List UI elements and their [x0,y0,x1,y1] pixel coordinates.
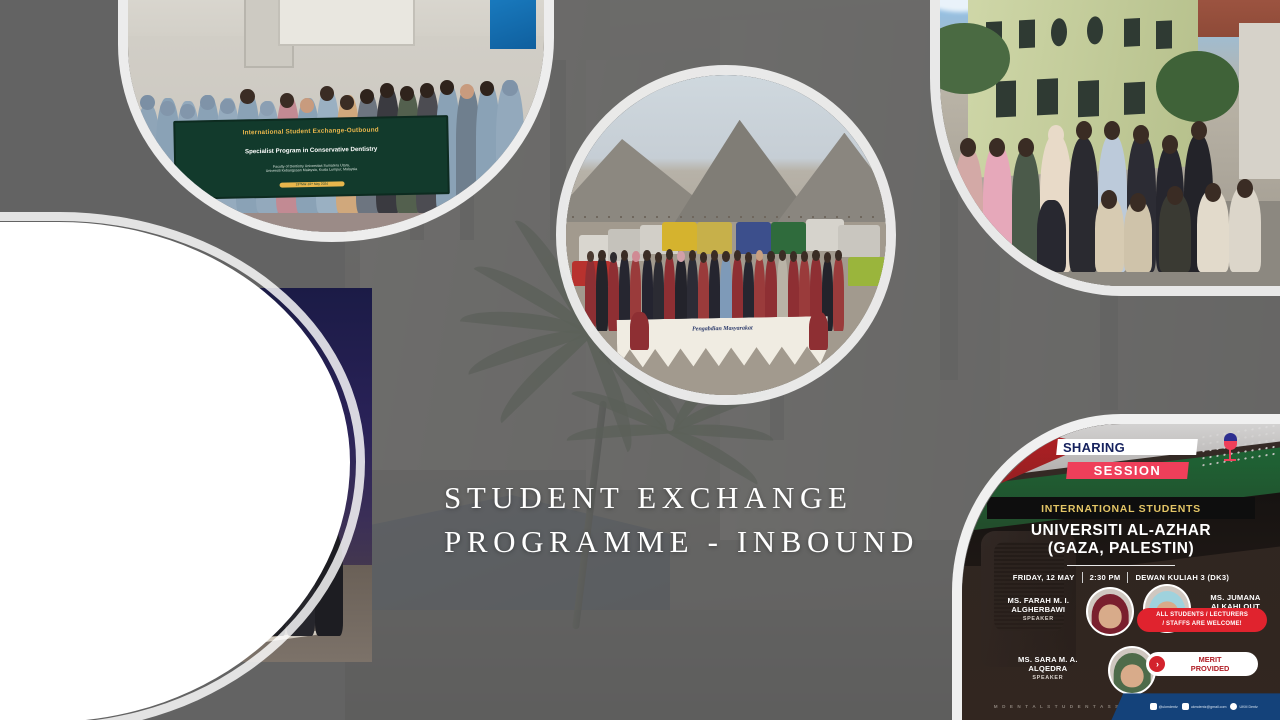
facebook-icon [1230,703,1237,710]
banner-date-badge: 13ᵗʰMar-18ᵗʰ May 2024 [279,181,344,187]
poster-sharing-session: SHARING SESSION INTERNATIONAL STUDENTS U… [962,424,1280,720]
social-instagram[interactable]: @ukmdentz [1150,703,1178,710]
mail-handle: ukmdentz@gmail.com [1191,705,1227,709]
university-line-2: (GAZA, PALESTIN) [975,541,1268,557]
banner-line-3: Faculty of Dentistry Universitas Sumater… [176,161,447,176]
meta-divider [1127,572,1128,583]
university-line-1: UNIVERSITI AL-AZHAR [975,523,1268,539]
welcome-pill-label: ALL STUDENTS / LECTURERS / STAFFS ARE WE… [1141,611,1263,628]
kneeling-person [809,312,828,350]
meta-divider [1082,572,1083,583]
session-label-box: SESSION [1066,462,1189,479]
event-venue: DEWAN KULIAH 3 (DK3) [1135,573,1229,582]
audience-bar-label: INTERNATIONAL STUDENTS [1041,503,1201,515]
speaker-1-role: SPEAKER [981,616,1095,622]
microphone-icon [1221,433,1239,463]
instagram-icon [1150,703,1157,710]
people-group [954,101,1274,272]
kneeling-person [630,312,649,350]
event-time: 2:30 PM [1090,573,1121,582]
projector-screen [278,0,415,46]
facebook-handle: UKM Dentz [1239,705,1257,709]
speaker-3-role: SPEAKER [991,675,1105,681]
display-screen [490,0,536,49]
photo-green-building-group [940,0,1280,286]
arrow-right-icon: › [1149,656,1165,672]
session-label: SESSION [1073,464,1182,477]
speaker-3-name: MS. SARA M. A. ALQEDRA [991,655,1105,674]
sharing-label-box: SHARING [1057,439,1199,455]
event-banner: International Student Exchange-Outbound … [173,115,449,200]
sharing-label: SHARING [1063,441,1191,454]
banner-line-2: Specialist Program in Conservative Denti… [176,144,447,157]
slide-canvas: International Student Exchange-Outbound … [0,0,1280,720]
welcome-pill: ALL STUDENTS / LECTURERS / STAFFS ARE WE… [1137,608,1267,632]
mountain [777,133,886,223]
speaker-1-name: MS. FARAH M. I. ALGHERBAWI [981,596,1095,615]
audience-bar: INTERNATIONAL STUDENTS [987,497,1254,519]
speaker-3: MS. SARA M. A. ALQEDRA SPEAKER [991,655,1105,681]
instagram-handle: @ukmdentz [1159,705,1178,709]
banner-line-1: International Student Exchange-Outbound [175,126,446,139]
mail-icon [1182,703,1189,710]
event-date: FRIDAY, 12 MAY [1013,573,1075,582]
poster-footer: M D E N T A L S T U D E N T A S S O C I … [962,693,1280,720]
footer-socials-block: @ukmdentz ukmdentz@gmail.com UKM Dentz [1111,693,1280,720]
social-mail[interactable]: ukmdentz@gmail.com [1182,703,1227,710]
event-meta: FRIDAY, 12 MAY 2:30 PM DEWAN KULIAH 3 (D… [975,572,1268,583]
photo-bromo-jeep-group: Pengabdian Masyarakat [566,75,886,395]
slide-headline: STUDENT EXCHANGE PROGRAMME - INBOUND [444,476,964,564]
speaker-1-avatar [1086,587,1134,636]
social-facebook[interactable]: UKM Dentz [1230,703,1257,710]
speaker-1: MS. FARAH M. I. ALGHERBAWI SPEAKER [981,596,1095,622]
divider-rule [1067,565,1175,567]
merit-pill-label: MERIT PROVIDED [1166,655,1253,674]
merit-pill: › MERIT PROVIDED [1146,652,1257,677]
fence [572,216,879,218]
photo-outbound-dentistry-group: International Student Exchange-Outbound … [128,0,544,232]
